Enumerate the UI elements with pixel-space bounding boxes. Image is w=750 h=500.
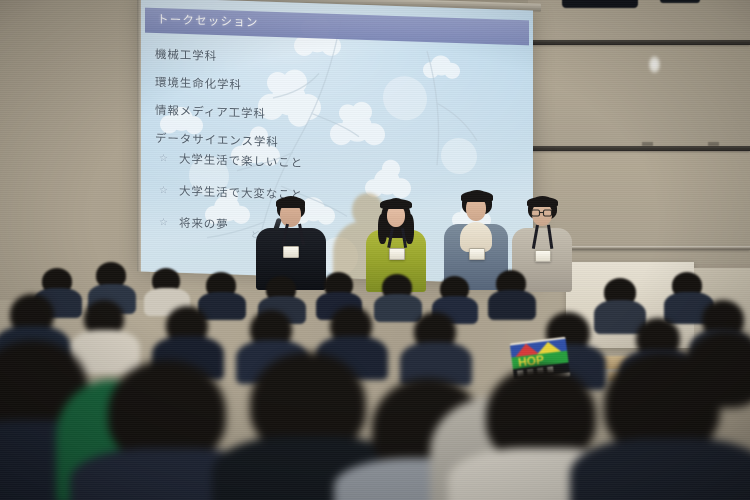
panelist-2-hair-left — [378, 214, 387, 244]
star-bullet-icon: ☆ — [159, 185, 168, 196]
audience-shoulders — [570, 438, 750, 500]
slide-title: トークセッション — [157, 11, 259, 30]
glasses-icon — [531, 209, 553, 217]
ceiling-mount-unit-secondary — [660, 0, 700, 3]
lecture-hall-photo: トークセッション 機械工学科 環境生命化学科 情報メディア工学科 データサイエン… — [0, 0, 750, 500]
panelist-3-fringe — [461, 191, 493, 202]
panelist-3 — [444, 190, 508, 288]
ceiling-mount-unit — [562, 0, 638, 8]
board-rail-top — [528, 40, 750, 45]
panelist-2-name-badge — [389, 248, 405, 260]
panelist-2-fringe — [380, 199, 412, 209]
department-list: 機械工学科 環境生命化学科 情報メディア工学科 データサイエンス学科 — [155, 46, 279, 162]
department-item: 環境生命化学科 — [155, 74, 279, 94]
audience-shoulders — [488, 290, 536, 320]
board-rail-mid — [528, 146, 750, 151]
board-mark-a — [642, 142, 653, 146]
panelist-4-fringe — [527, 197, 558, 207]
board-mark-b — [708, 142, 719, 146]
topic-label: 大学生活で楽しいこと — [179, 151, 303, 171]
wall-shade-left — [0, 0, 150, 300]
panelist-4-name-badge — [535, 250, 551, 262]
topic-row: ☆ 大学生活で楽しいこと — [159, 150, 303, 171]
department-item: 情報メディア工学科 — [155, 102, 279, 122]
star-bullet-icon: ☆ — [159, 153, 168, 164]
department-item: 機械工学科 — [155, 46, 279, 66]
whiteboard-panel-upper — [528, 44, 750, 146]
department-item: データサイエンス学科 — [155, 130, 279, 150]
panelist-1-fringe — [276, 197, 305, 208]
whiteboard-glare — [648, 55, 661, 74]
audience-shoulders — [374, 294, 422, 322]
topic-label: 将来の夢 — [179, 215, 229, 233]
panelist-1 — [256, 196, 326, 288]
panelist-3-name-badge — [469, 248, 485, 260]
star-bullet-icon: ☆ — [159, 217, 168, 228]
panelist-2-hair-right — [405, 214, 414, 244]
panelist-1-name-badge — [283, 246, 299, 258]
